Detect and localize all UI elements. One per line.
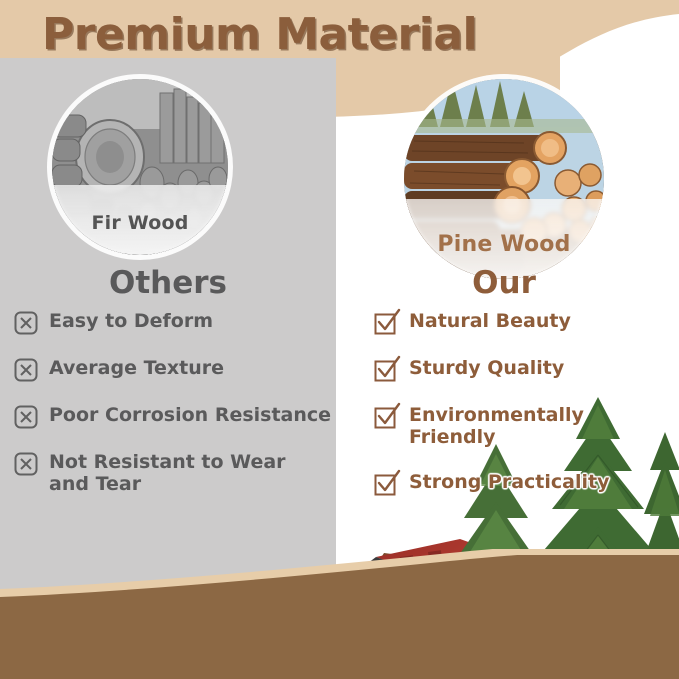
list-item-label: Sturdy Quality [409,357,564,379]
others-heading: Others [0,265,336,301]
list-item-label: Strong Practicality [409,471,609,493]
check-in-box-icon [374,311,398,335]
fir-wood-label: Fir Wood [91,212,188,234]
fir-wood-photo-circle: Fir Wood [52,79,228,255]
cross-in-box-icon [14,311,38,335]
list-item: Sturdy Quality [374,357,674,382]
premium-material-poster: Premium Material [0,0,679,679]
check-in-box-icon [374,405,398,429]
list-item-label: Natural Beauty [409,310,571,332]
page-title: Premium Material [42,9,477,60]
list-item: Easy to Deform [14,310,336,335]
list-item: Environmentally Friendly [374,404,674,449]
check-in-box-icon [374,358,398,382]
list-item-label: Average Texture [49,357,224,379]
list-item-label: Environmentally Friendly [409,404,674,449]
others-feature-list: Easy to Deform Average Texture Poor Corr… [14,310,336,518]
check-in-box-icon [374,472,398,496]
list-item-label: Not Resistant to Wear and Tear [49,451,299,496]
our-heading: Our [404,265,604,301]
list-item: Average Texture [14,357,336,382]
pine-wood-photo-circle: Pine Wood [404,79,604,279]
list-item-label: Easy to Deform [49,310,213,332]
list-item: Poor Corrosion Resistance [14,404,336,429]
cross-in-box-icon [14,452,38,476]
list-item: Natural Beauty [374,310,674,335]
pine-wood-label: Pine Wood [437,232,570,257]
cross-in-box-icon [14,358,38,382]
our-feature-list: Natural Beauty Sturdy Quality Environmen… [374,310,674,518]
fir-wood-label-band: Fir Wood [52,185,228,255]
list-item-label: Poor Corrosion Resistance [49,404,331,426]
cross-in-box-icon [14,405,38,429]
list-item: Not Resistant to Wear and Tear [14,451,336,496]
list-item: Strong Practicality [374,471,674,496]
